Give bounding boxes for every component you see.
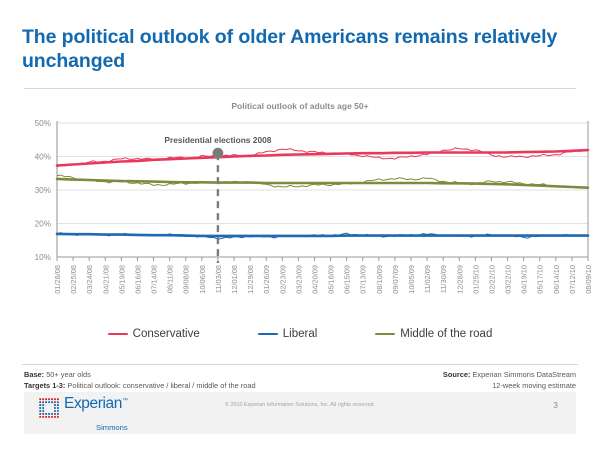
x-axis-tick-label: 07/14/08 (150, 265, 159, 294)
x-axis-tick-label: 02/25/08 (69, 265, 78, 294)
footnote-right: Source: Experian Simmons DataStream 12-w… (443, 369, 576, 391)
x-axis-tick-label: 01/25/10 (471, 265, 480, 294)
x-axis-tick-label: 12/29/08 (246, 265, 255, 294)
logo-dot (42, 410, 44, 412)
x-axis-tick-label: 04/20/09 (310, 265, 319, 294)
legend-label: Liberal (283, 328, 318, 340)
y-axis-tick-label: 30% (35, 186, 51, 195)
title-divider (24, 88, 576, 89)
legend-swatch (258, 333, 278, 336)
logo-dot (57, 410, 59, 412)
chart-area: 10%20%30%40%50%01/28/0802/25/0803/24/080… (0, 115, 600, 330)
legend-swatch (108, 333, 128, 336)
x-axis-tick-label: 08/11/08 (166, 265, 175, 293)
x-axis-tick-label: 01/28/08 (53, 265, 62, 294)
logo-dot (48, 416, 50, 418)
logo-dot (45, 413, 47, 415)
series-line-conservative (57, 148, 588, 167)
x-axis-tick-label: 09/07/09 (391, 265, 400, 294)
x-axis-tick-label: 08/09/10 (584, 265, 593, 294)
chart-subtitle: Political outlook of adults age 50+ (0, 101, 600, 111)
x-axis-tick-label: 06/16/08 (133, 265, 142, 294)
logo-dot (42, 416, 44, 418)
y-axis-tick-label: 40% (35, 153, 51, 162)
logo-dot (51, 413, 53, 415)
footnote-base-label: Base: (24, 370, 44, 379)
x-axis-tick-label: 02/22/10 (487, 265, 496, 294)
y-axis-tick-label: 10% (35, 253, 51, 262)
x-axis-tick-label: 12/28/09 (455, 265, 464, 294)
page-number: 3 (553, 400, 558, 410)
logo-dot (42, 413, 44, 415)
logo-dot (57, 413, 59, 415)
x-axis-tick-label: 11/02/09 (423, 265, 432, 293)
legend-item-liberal[interactable]: Liberal (258, 328, 318, 340)
logo-dot (57, 416, 59, 418)
x-axis-tick-label: 07/13/09 (359, 265, 368, 294)
logo-dot (51, 398, 53, 400)
legend-label: Middle of the road (400, 328, 492, 340)
footnote-source-note: 12-week moving estimate (443, 380, 576, 391)
annotation-label: Presidential elections 2008 (164, 135, 271, 145)
x-axis-tick-label: 05/17/10 (536, 265, 545, 294)
logo-dot (48, 413, 50, 415)
legend-item-middle-of-the-road[interactable]: Middle of the road (375, 328, 492, 340)
x-axis-tick-label: 10/05/09 (407, 265, 416, 294)
logo-dot (42, 398, 44, 400)
x-axis-tick-label: 04/19/10 (520, 265, 529, 294)
x-axis-tick-label: 04/21/08 (101, 265, 110, 294)
page-title: The political outlook of older Americans… (22, 26, 576, 74)
logo-dot (45, 410, 47, 412)
logo-dot (51, 416, 53, 418)
logo-dot (54, 398, 56, 400)
x-axis-tick-label: 08/10/09 (375, 265, 384, 294)
logo-dot (45, 416, 47, 418)
x-axis-tick-label: 11/30/09 (439, 265, 448, 293)
x-axis-tick-label: 03/24/08 (85, 265, 94, 294)
title-block: The political outlook of older Americans… (22, 26, 576, 74)
x-axis-tick-label: 06/14/10 (552, 265, 561, 294)
x-axis-tick-label: 01/26/09 (262, 265, 271, 294)
x-axis-tick-label: 10/06/08 (198, 265, 207, 294)
footnote-source: Source: Experian Simmons DataStream (443, 369, 576, 380)
footnote-targets-value: Political outlook: conservative / libera… (65, 381, 255, 390)
x-axis-tick-label: 03/22/10 (504, 265, 513, 294)
logo-dot (45, 398, 47, 400)
footnote-base: Base: 50+ year olds (24, 369, 256, 380)
footer-divider (22, 364, 578, 365)
x-axis-tick-label: 03/23/09 (294, 265, 303, 294)
footnote-source-label: Source: (443, 370, 471, 379)
logo-dot (39, 413, 41, 415)
logo-dot (54, 410, 56, 412)
x-axis-tick-label: 05/19/08 (117, 265, 126, 294)
footnote-left: Base: 50+ year olds Targets 1-3: Politic… (24, 369, 256, 391)
logo-dot (48, 398, 50, 400)
x-axis-tick-label: 05/18/09 (327, 265, 336, 294)
chart-legend: ConservativeLiberalMiddle of the road (0, 328, 600, 340)
x-axis-tick-label: 11/03/08 (214, 265, 223, 293)
logo-dot (39, 416, 41, 418)
footnote-source-value: Experian Simmons DataStream (470, 370, 576, 379)
logo-dot (51, 410, 53, 412)
x-axis-tick-label: 07/12/10 (568, 265, 577, 294)
logo-dot (54, 413, 56, 415)
footnote-targets: Targets 1-3: Political outlook: conserva… (24, 380, 256, 391)
experian-dot-matrix-icon (38, 397, 60, 419)
slide: The political outlook of older Americans… (0, 0, 600, 450)
logo-dot (39, 398, 41, 400)
y-axis-tick-label: 20% (35, 220, 51, 229)
footnote-targets-label: Targets 1-3: (24, 381, 65, 390)
x-axis-tick-label: 12/01/08 (230, 265, 239, 294)
logo-dot (39, 410, 41, 412)
logo-dot (57, 398, 59, 400)
legend-item-conservative[interactable]: Conservative (108, 328, 200, 340)
legend-swatch (375, 333, 395, 336)
line-chart: 10%20%30%40%50%01/28/0802/25/0803/24/080… (0, 115, 600, 330)
x-axis-tick-label: 02/23/09 (278, 265, 287, 294)
x-axis-tick-label: 09/08/08 (182, 265, 191, 294)
x-axis-tick-label: 06/15/09 (343, 265, 352, 294)
logo-subbrand: Simmons (96, 423, 128, 432)
logo-dot (54, 416, 56, 418)
y-axis-tick-label: 50% (35, 119, 51, 128)
logo-dot (48, 410, 50, 412)
footnote-base-value: 50+ year olds (44, 370, 91, 379)
legend-label: Conservative (133, 328, 200, 340)
copyright-text: © 2010 Experian Information Solutions, I… (0, 402, 600, 408)
annotation-marker-dot (213, 148, 224, 159)
